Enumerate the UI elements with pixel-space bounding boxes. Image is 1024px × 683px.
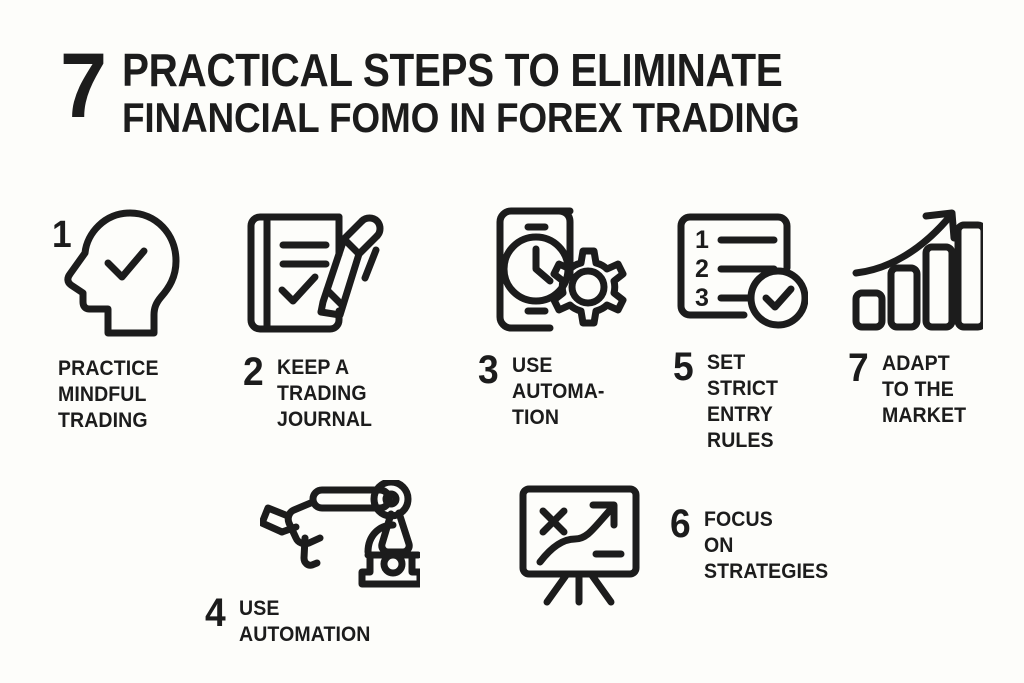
- notebook-pencil-icon: [243, 207, 395, 339]
- phone-clock-gear-icon: [478, 205, 633, 337]
- title-text-lines: PRACTICAL STEPS TO ELIMINATE FINANCIAL F…: [122, 42, 892, 141]
- step-1-icon-box: [52, 205, 192, 340]
- step-item-5: 1 2 3 5 SET STRICT ENTRY RULES: [673, 210, 808, 454]
- numbered-list-check-icon: 1 2 3: [673, 210, 808, 332]
- step-6-caption: 6 FOCUS ON STRATEGIES: [670, 507, 838, 585]
- step-1-caption: 1 PRACTICE MINDFUL TRADING: [58, 356, 192, 434]
- list-number-2: 2: [695, 255, 709, 283]
- step-6-row: 6 FOCUS ON STRATEGIES: [517, 483, 838, 608]
- step-7-label: ADAPT TO THE MARKET: [882, 351, 966, 429]
- step-7-icon-box: [848, 205, 983, 333]
- step-3-number: 3: [478, 353, 510, 387]
- title-line-1: PRACTICAL STEPS TO ELIMINATE: [122, 47, 800, 94]
- step-6-number: 6: [670, 507, 702, 541]
- step-2-label: KEEP A TRADING JOURNAL: [277, 355, 372, 433]
- page-title: 7 PRACTICAL STEPS TO ELIMINATE FINANCIAL…: [60, 42, 892, 141]
- growth-bar-chart-arrow-icon: [848, 205, 983, 333]
- step-4-caption: 4 USE AUTOMATION: [205, 596, 420, 648]
- step-item-6: 6 FOCUS ON STRATEGIES: [517, 483, 838, 608]
- step-item-1: 1 PRACTICE MINDFUL TRADING: [52, 205, 192, 434]
- easel-leg-right: [591, 574, 611, 602]
- step-2-icon-box: [243, 207, 395, 339]
- title-number: 7: [60, 42, 117, 131]
- list-number-1: 1: [695, 226, 709, 254]
- step-4-icon-box: [260, 480, 420, 590]
- chart-bar-3: [926, 247, 952, 327]
- step-7-caption: 7 ADAPT TO THE MARKET: [848, 351, 983, 429]
- step-3-icon-box: [478, 205, 633, 337]
- step-5-icon-box: 1 2 3: [673, 210, 808, 332]
- step-2-caption: 2 KEEP A TRADING JOURNAL: [243, 355, 395, 433]
- step-7-number: 7: [848, 351, 880, 385]
- step-5-label: SET STRICT ENTRY RULES: [707, 350, 778, 454]
- step-item-7: 7 ADAPT TO THE MARKET: [848, 205, 983, 429]
- title-line-2: FINANCIAL FOMO IN FOREX TRADING: [122, 94, 800, 141]
- chart-bar-1: [856, 293, 882, 327]
- easel-strategy-chart-icon: [517, 483, 642, 608]
- step-5-number: 5: [673, 350, 705, 384]
- step-4-label: USE AUTOMATION: [239, 596, 370, 648]
- step-5-caption: 5 SET STRICT ENTRY RULES: [673, 350, 808, 454]
- chart-bar-2: [891, 268, 917, 327]
- step-1-number: 1: [52, 219, 72, 252]
- step-1-label: PRACTICE MINDFUL TRADING: [58, 356, 159, 434]
- step-3-caption: 3 USE AUTOMA- TION: [478, 353, 633, 431]
- step-item-3: 3 USE AUTOMA- TION: [478, 205, 633, 431]
- list-number-3: 3: [695, 284, 709, 312]
- step-item-4: 4 USE AUTOMATION: [205, 480, 420, 648]
- step-2-number: 2: [243, 355, 275, 389]
- step-6-label: FOCUS ON STRATEGIES: [704, 507, 828, 585]
- easel-leg-left: [547, 574, 567, 602]
- step-6-icon-box: [517, 483, 642, 608]
- step-3-label: USE AUTOMA- TION: [512, 353, 605, 431]
- head-profile-check-icon: [52, 205, 192, 340]
- step-item-2: 2 KEEP A TRADING JOURNAL: [243, 207, 395, 433]
- step-4-number: 4: [205, 596, 237, 630]
- chart-bar-4: [958, 225, 983, 327]
- robot-arm-icon: [260, 480, 420, 590]
